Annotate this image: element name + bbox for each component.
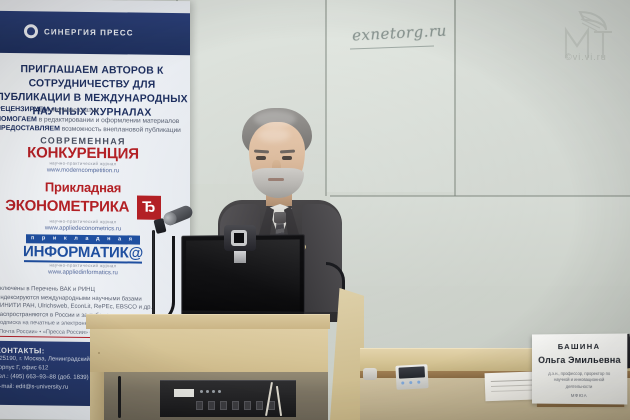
lectern-top-surface [86, 314, 330, 329]
bullet-strong: ПРЕДОСТАВЛЯЕМ [0, 125, 60, 133]
bullet-strong: РЕЦЕНЗИРУЕМ [0, 106, 49, 114]
journal-subtitle: научно-практический журнал [0, 160, 172, 167]
journal-title: ЭКОНОМЕТРИКА [5, 197, 129, 216]
nameplate: БАШИНА Ольга Эмильевна д.э.н., профессор… [532, 334, 627, 405]
remote-control-icon [395, 364, 428, 390]
journal-title: ИНФОРМАТИК@ [0, 244, 172, 261]
nameplate-surname: БАШИНА [536, 342, 623, 352]
journal-badge: Ђ [137, 196, 161, 220]
nameplate-organization: МФЮА [536, 393, 623, 399]
eye-left [256, 156, 266, 160]
microphone-cable [152, 236, 175, 325]
microphone-stand [152, 230, 155, 322]
nameplate-given-name: Ольга Эмильевна [536, 355, 623, 365]
banner-header-bar: СИНЕРГИЯ ПРЕСС [0, 11, 190, 55]
webcam-lens [231, 230, 247, 246]
power-cable [118, 376, 121, 418]
hair-highlight [254, 111, 296, 127]
bullet-strong: ПОМОГАЕМ [0, 115, 37, 122]
lectern-icon [90, 326, 328, 372]
webcam-clip [234, 251, 246, 263]
journal-logo-modern-competition: СОВРЕМЕННАЯ КОНКУРЕНЦИЯ научно-практичес… [0, 135, 172, 175]
forehead-highlight [258, 128, 290, 142]
whiteboard-seam-2 [454, 0, 456, 196]
mti-logo-icon [550, 6, 622, 72]
necktie-knot [274, 212, 286, 223]
remote-button [409, 381, 412, 384]
beard [252, 168, 304, 198]
nameplate-role: д.э.н., профессор, проректор по научной … [536, 371, 623, 391]
publisher-name: СИНЕРГИЯ ПРЕСС [44, 27, 134, 37]
remote-button [417, 381, 420, 384]
banner-bullet-list: РЕЦЕНЗИРУЕМ научные статьи ПОМОГАЕМ в ре… [0, 105, 190, 136]
amplifier-label [174, 389, 194, 397]
bullet-rest: возможность внеплановой публикации [62, 126, 181, 134]
journal-logo-applied-informatics: п р и к л а д н а я ИНФОРМАТИК@ научно-п… [0, 226, 172, 277]
cup-icon [363, 368, 377, 380]
lectern-side-panel [90, 372, 104, 420]
mouth [268, 178, 284, 181]
remote-display [398, 366, 425, 378]
bullet-rest: в редактировании и оформлении материалов [39, 116, 180, 125]
journal-logo-applied-econometrics: Прикладная ЭКОНОМЕТРИКА Ђ научно-практич… [0, 179, 172, 233]
eye-right [282, 156, 292, 160]
amplifier-indicator-lights [200, 390, 221, 393]
bullet-rest: научные статьи [51, 106, 99, 114]
whiteboard-seam-4 [330, 195, 630, 197]
lectern-screw [98, 352, 100, 354]
synergy-press-logo-icon [24, 24, 38, 38]
remote-button [401, 381, 404, 384]
list-item: ПРЕДОСТАВЛЯЕМ возможность внеплановой пу… [0, 124, 190, 136]
journal-url: www.moderncompetition.ru [0, 167, 172, 175]
watermark-url: ©vi.vi.ru [550, 52, 622, 62]
journal-url: www.appliedinformatics.ru [0, 269, 172, 277]
amplifier-jack-row [196, 401, 275, 410]
webcam-icon [224, 225, 256, 251]
whiteboard-panel-lower [330, 196, 630, 286]
journal-subtitle: научно-практический журнал [0, 262, 172, 269]
conference-photo-scene: exnetorg.ru ©vi.vi.ru СИНЕРГИЯ ПРЕСС ПРИ… [0, 0, 630, 420]
